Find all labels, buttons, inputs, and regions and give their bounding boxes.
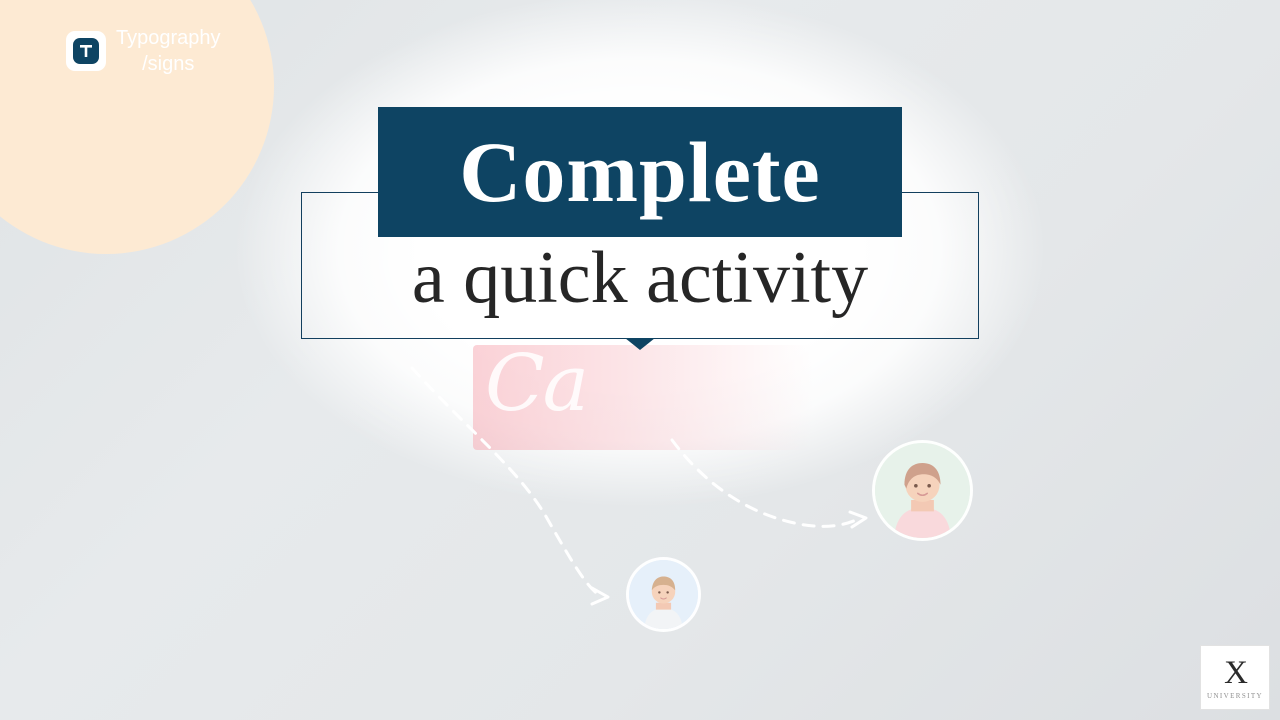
corner-logo-word: UNIVERSITY [1207,692,1263,700]
banner-pointer-icon [625,338,655,350]
slide-title: Complete [459,129,820,215]
slide-canvas: Typography /signs Ca Complete a quick ac… [0,0,1280,720]
typography-badge-label: Typography /signs [116,25,221,77]
corner-logo: X UNIVERSITY [1200,645,1270,710]
title-banner: Complete [378,107,902,237]
slide-subtitle: a quick activity [301,232,979,324]
faded-brand-mark: Ca [473,345,813,450]
corner-logo-mark: X [1224,656,1246,690]
badge-line-2: /signs [116,51,221,77]
avatar-child [626,557,701,632]
badge-line-1: Typography [116,25,221,51]
typography-badge-content: Typography /signs [66,25,221,77]
typography-app-icon [66,31,106,71]
faded-brand-text: Ca [485,345,587,429]
avatar-woman [872,440,973,541]
